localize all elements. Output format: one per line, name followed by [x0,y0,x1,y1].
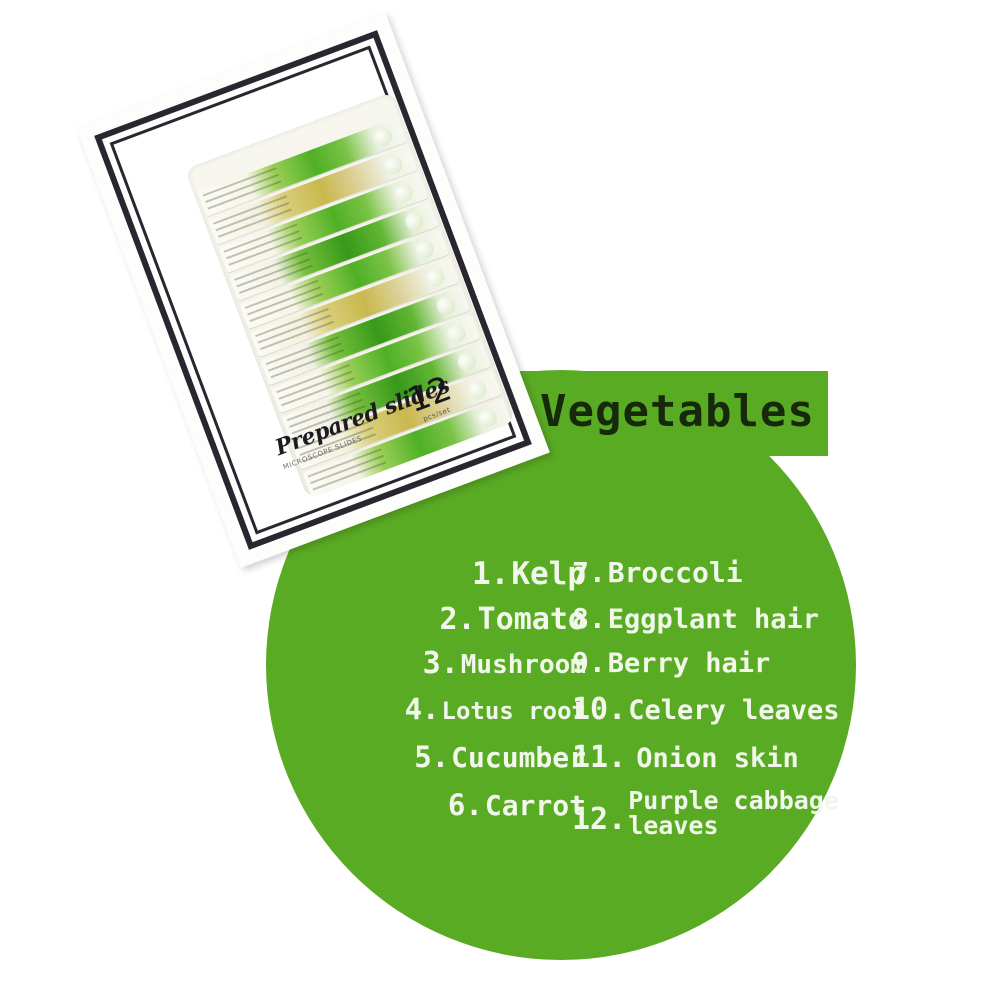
list-item-label: Mushroom [461,650,586,680]
list-item: 5. Cucumber [396,740,586,788]
list-item-number: 6. [448,788,483,822]
list-item-label: Carrot [485,789,586,822]
list-item-label: Tomato [478,602,586,637]
list-item: 4. Lotus root [396,692,586,740]
list-item-label: Eggplant hair [608,604,819,635]
list-item-number: 12. [572,802,626,837]
list-item-number: 11. [572,740,626,775]
product-image-canvas: Vegetables 1. Kelp 2. Tomato 3. Mushroom… [0,0,1000,1000]
list-item-number: 7. [572,556,606,589]
list-item: 10. Celery leaves [572,692,862,740]
list-item: 6. Carrot [396,788,586,834]
list-item-number: 8. [572,602,606,635]
page-title: Vegetables [540,379,840,445]
list-item-label: Purple cabbage leaves [628,788,839,838]
list-item-label: Lotus root [442,697,587,725]
list-item-number: 5. [414,740,449,774]
list-item-label: Broccoli [608,556,743,589]
list-item-number: 2. [440,602,476,637]
list-item: 1. Kelp [396,556,586,602]
list-item-number: 10. [572,692,626,727]
list-item: 12. Purple cabbage leaves [572,788,862,844]
list-item: 11. Onion skin [572,740,862,788]
list-item: 3. Mushroom [396,646,586,692]
list-item-number: 9. [572,646,606,679]
list-item-label: Cucumber [451,741,586,774]
list-item-label: Onion skin [636,743,799,774]
list-item-number: 4. [405,692,440,726]
vegetable-list-right-column: 7. Broccoli 8. Eggplant hair 9. Berry ha… [572,556,862,844]
list-item-label: Celery leaves [628,695,839,726]
list-item: 7. Broccoli [572,556,862,602]
list-item: 2. Tomato [396,602,586,646]
list-item-number: 1. [472,556,509,592]
list-item-label: Berry hair [608,648,771,679]
vegetable-list-left-column: 1. Kelp 2. Tomato 3. Mushroom 4. Lotus r… [396,556,586,834]
list-item: 8. Eggplant hair [572,602,862,646]
list-item-number: 3. [423,646,459,681]
list-item: 9. Berry hair [572,646,862,692]
